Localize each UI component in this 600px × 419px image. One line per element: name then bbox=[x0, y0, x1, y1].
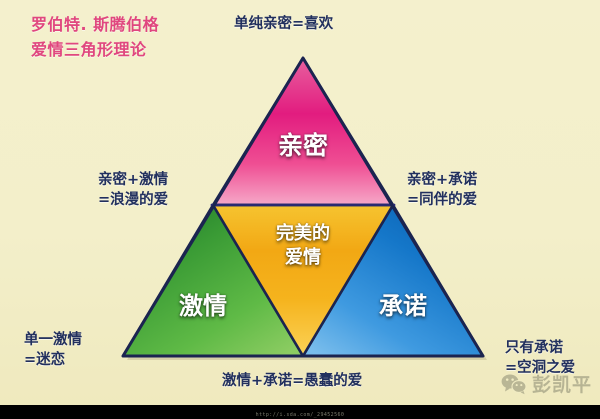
wechat-icon bbox=[501, 373, 527, 395]
footer-url: http://i.sda.com/_29452560 bbox=[0, 412, 600, 418]
watermark: 彭凯平 bbox=[501, 370, 592, 397]
annotation-bottom-left: 单一激情 =迷恋 bbox=[24, 330, 82, 370]
diagram-canvas: 罗伯特. 斯腾伯格 爱情三角形理论 bbox=[0, 0, 600, 419]
watermark-text: 彭凯平 bbox=[532, 370, 592, 397]
intimacy-triangle bbox=[213, 58, 393, 205]
annotation-right: 亲密+承诺 =同伴的爱 bbox=[407, 170, 477, 210]
annotation-top: 单纯亲密=喜欢 bbox=[234, 14, 333, 34]
annotation-bottom: 激情+承诺=愚蠢的爱 bbox=[222, 371, 362, 391]
annotation-left: 亲密+激情 =浪漫的爱 bbox=[98, 170, 168, 210]
